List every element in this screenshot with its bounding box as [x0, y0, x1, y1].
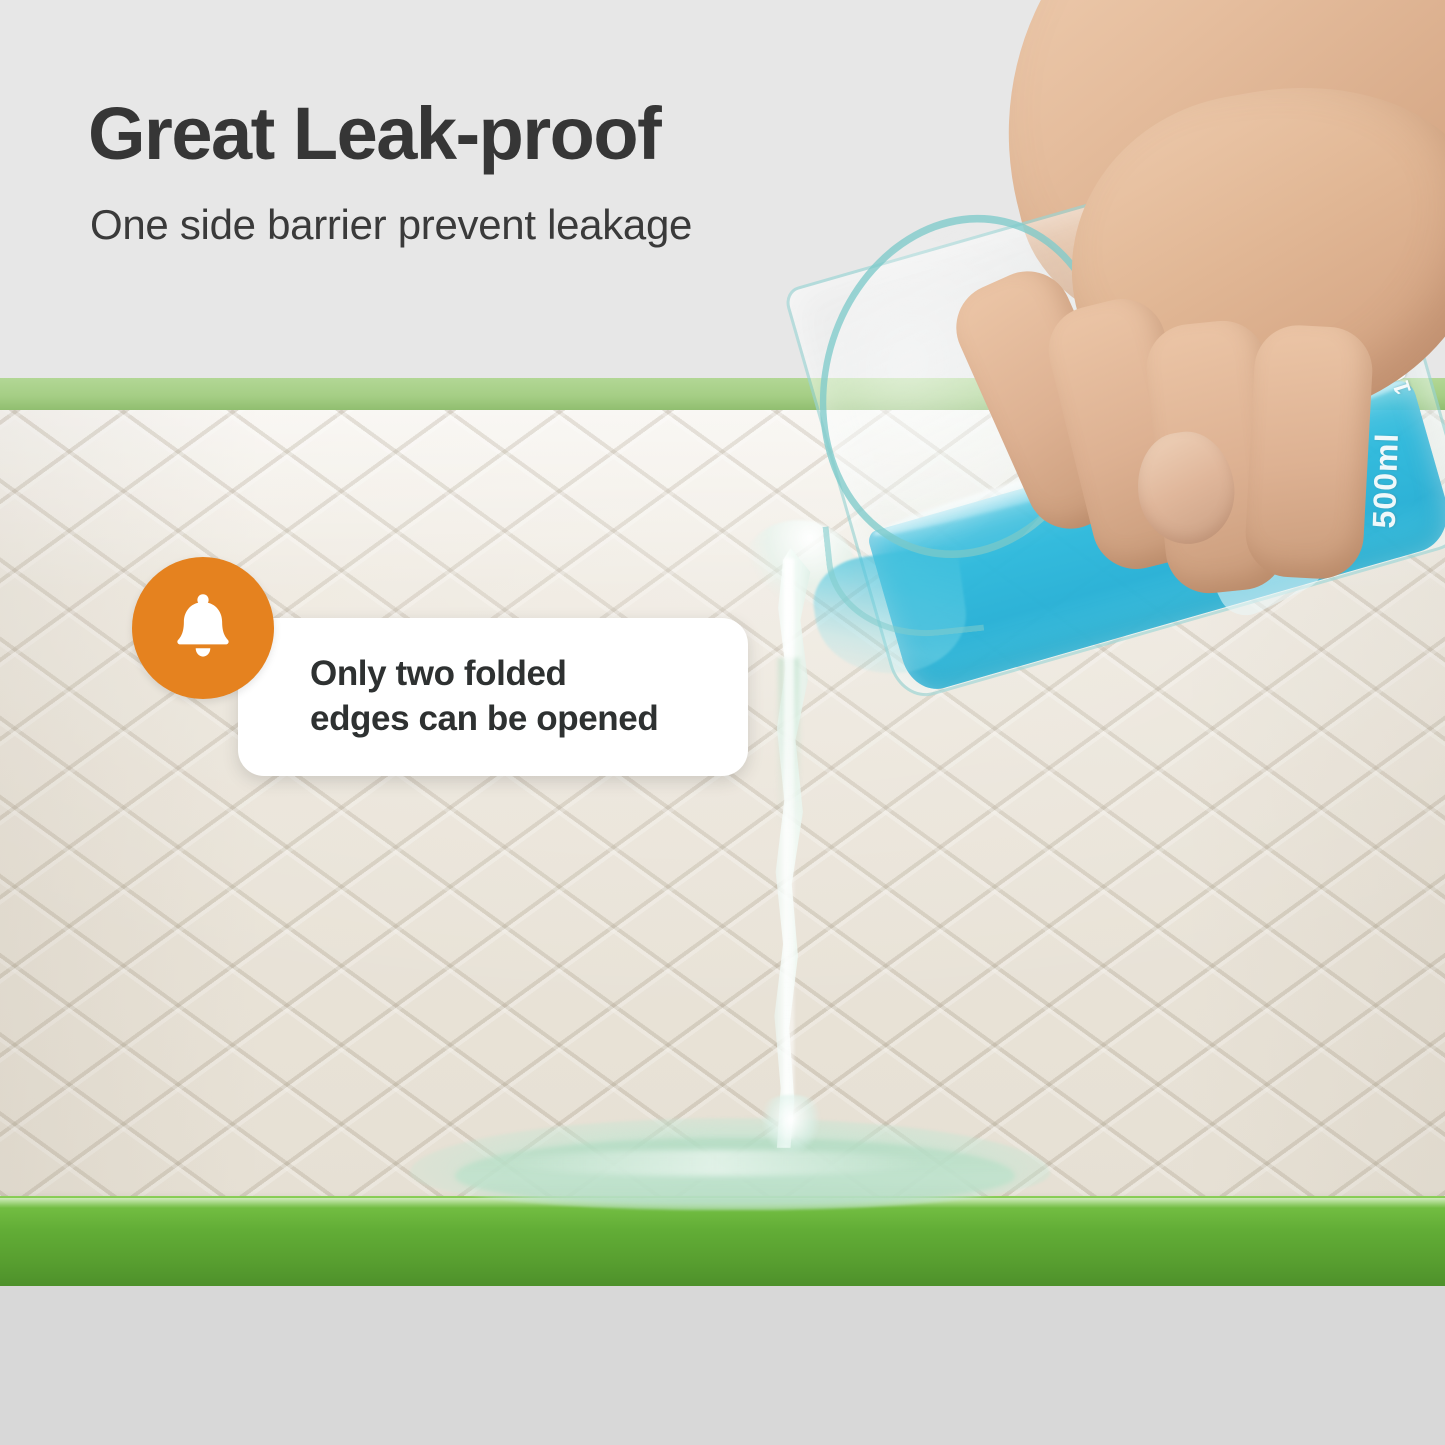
bell-icon [167, 592, 239, 664]
water-stream [762, 548, 824, 1148]
callout-line-2: edges can be opened [310, 699, 658, 738]
callout-box: Only two folded edges can be opened [238, 618, 748, 776]
water-stream-highlight [784, 558, 794, 1138]
footer-band [0, 1283, 1445, 1445]
beaker-capacity: 500ml [1366, 432, 1406, 529]
finger [1243, 323, 1374, 581]
hand-holding-beaker: 500 APPROX 300 200 100 GG-17 500ml [820, 0, 1445, 690]
callout-text: Only two folded edges can be opened [238, 652, 692, 742]
water-puddle-sheen [500, 1150, 930, 1176]
bell-badge [132, 557, 274, 699]
product-feature-image: Great Leak-proof One side barrier preven… [0, 0, 1445, 1445]
page-title: Great Leak-proof [88, 96, 660, 171]
page-subtitle: One side barrier prevent leakage [90, 200, 692, 250]
callout-line-1: Only two folded [310, 654, 566, 693]
